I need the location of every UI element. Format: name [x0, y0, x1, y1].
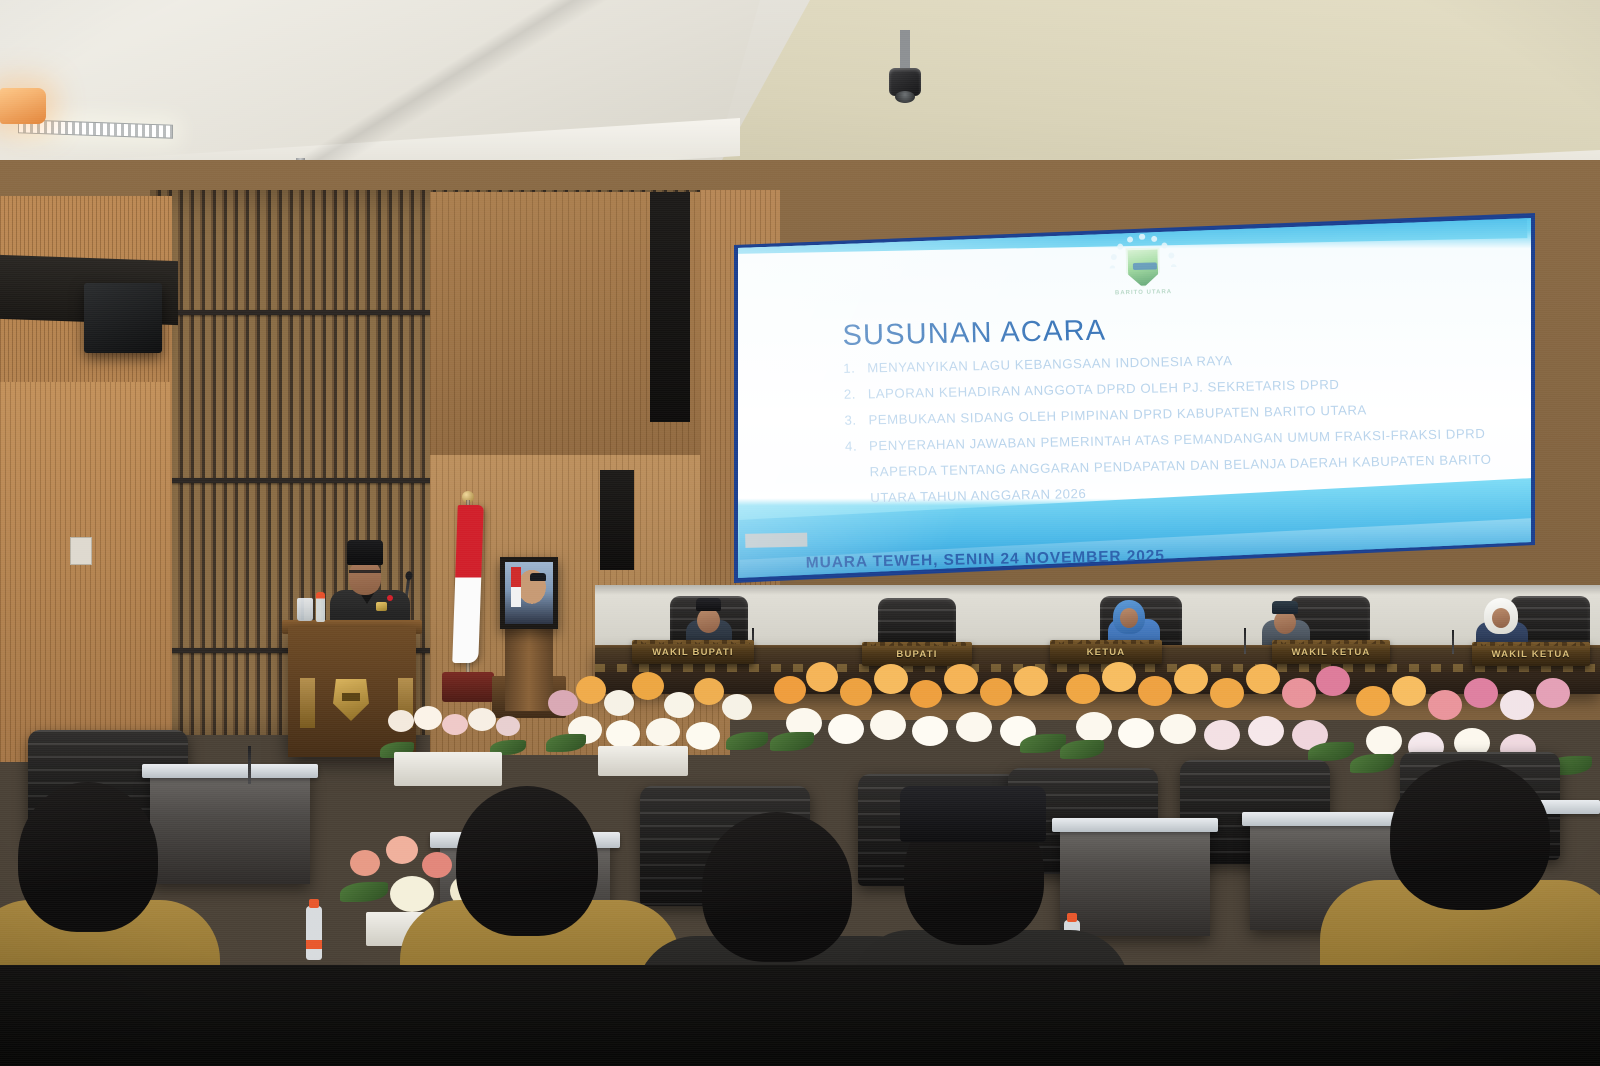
flower-arrangement [370, 700, 550, 770]
audience-desk [150, 772, 310, 884]
flag-stand [442, 672, 494, 702]
wall-lamp-icon [0, 88, 46, 124]
dark-wall-column [600, 470, 634, 570]
agenda-number: 2. [844, 382, 856, 408]
nameplate-wakil-ketua-2: WAKIL KETUA [1472, 642, 1590, 666]
audience-desk [1060, 826, 1210, 936]
podium-ornament [300, 678, 315, 728]
agenda-number: 1. [843, 356, 855, 382]
official-head [1120, 608, 1138, 628]
crest-label: BARITO UTARA [1107, 289, 1179, 296]
nameplate-label: WAKIL KETUA [1492, 649, 1571, 660]
floor [0, 965, 1600, 1066]
wall-placard [70, 537, 92, 565]
dais-shadow [595, 585, 1600, 595]
desk-microphone-icon [1452, 630, 1454, 654]
water-bottle-icon [316, 592, 325, 622]
nameplate-label: WAKIL BUPATI [652, 647, 733, 658]
wood-wall-panel [430, 192, 740, 462]
agenda-number: 4. [845, 434, 857, 460]
wall-tv-monitor-icon [84, 283, 162, 353]
peci-cap-icon [1272, 601, 1298, 614]
projection-screen: BARITO UTARA SUSUNAN ACARA 1. MENYANYIKA… [736, 216, 1531, 578]
speaker-at-podium [330, 540, 410, 630]
regency-crest-icon: BARITO UTARA [1106, 233, 1180, 312]
flower-arrangement [770, 658, 1070, 778]
peci-cap-icon [696, 598, 721, 611]
slide-footer-tag [745, 533, 807, 548]
official-head [1492, 608, 1510, 628]
nameplate-wakil-bupati: WAKIL BUPATI [632, 640, 754, 664]
flower-arrangement [540, 668, 790, 778]
official-head [697, 608, 720, 633]
indonesia-flag-icon [452, 505, 484, 663]
peci-cap-icon [900, 786, 1046, 842]
slide-title: SUSUNAN ACARA [842, 315, 1107, 353]
desk-top [142, 764, 318, 778]
agenda-number: 3. [844, 408, 856, 434]
peci-cap-icon [347, 540, 383, 565]
nameplate-label: KETUA [1087, 647, 1126, 658]
dark-wall-column [650, 192, 690, 422]
drinking-glass-icon [297, 598, 313, 621]
presidential-portrait-icon [500, 557, 558, 629]
assembly-hall-photo: BARITO UTARA SUSUNAN ACARA 1. MENYANYIKA… [0, 0, 1600, 1066]
desk-microphone-icon [1244, 628, 1246, 654]
nameplate-label: WAKIL KETUA [1292, 647, 1371, 658]
desk-microphone-icon [248, 746, 251, 784]
wood-wall-panel-lower [0, 382, 170, 762]
desk-top [1052, 818, 1218, 832]
spotlight-icon [900, 30, 910, 72]
water-bottle-icon [306, 906, 322, 960]
desk-top [1242, 812, 1410, 826]
